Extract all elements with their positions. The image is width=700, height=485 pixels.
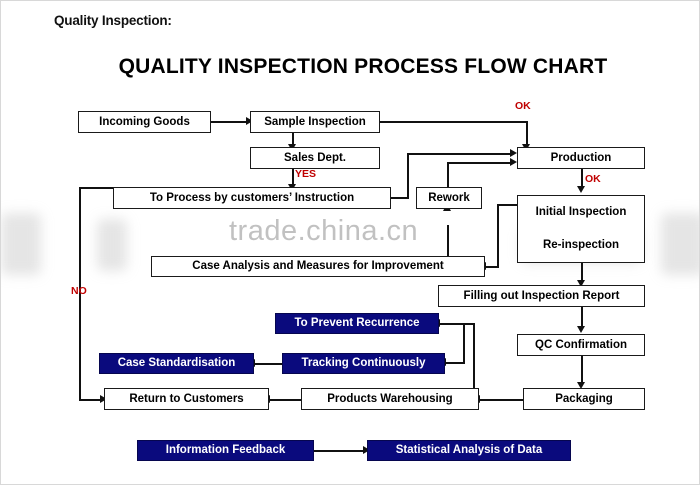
edge-no-bottom-horizontal — [79, 399, 101, 401]
edge-label-ok-top: OK — [515, 100, 531, 112]
edge-feedback-to-analysis — [314, 450, 366, 452]
edge-inspection-left-vertical — [497, 204, 499, 267]
edge-process-up — [407, 153, 409, 199]
edge-rework-to-production — [447, 162, 511, 164]
node-production[interactable]: Production — [517, 147, 645, 169]
edge-prevent-right — [439, 323, 465, 325]
edge-sample-ok-horizontal — [380, 121, 527, 123]
node-initial-inspection: Initial Inspection — [518, 196, 644, 229]
edge-no-top-horizontal — [79, 187, 115, 189]
node-filling-out-inspection-report[interactable]: Filling out Inspection Report — [438, 285, 645, 307]
page-caption: Quality Inspection: — [54, 13, 172, 28]
edge-prevent-to-tracking — [445, 362, 465, 364]
edge-process-to-production — [407, 153, 511, 155]
edge-qc-to-packaging — [581, 356, 583, 385]
node-case-standardisation[interactable]: Case Standardisation — [99, 353, 254, 374]
arrowhead-process-to-production — [510, 149, 517, 157]
flowchart-page: Quality Inspection: QUALITY INSPECTION P… — [0, 0, 700, 485]
node-tracking-continuously[interactable]: Tracking Continuously — [282, 353, 445, 374]
node-information-feedback[interactable]: Information Feedback — [137, 440, 314, 461]
node-incoming-goods[interactable]: Incoming Goods — [78, 111, 211, 133]
watermark-blob-left — [1, 213, 41, 275]
edge-label-yes: YES — [295, 168, 316, 180]
arrowhead-production-to-initial — [577, 186, 585, 193]
edge-prevent-down — [463, 323, 465, 364]
watermark-text: trade.china.cn — [229, 215, 418, 248]
edge-incoming-to-sample — [211, 121, 249, 123]
edge-rework-up — [447, 162, 449, 188]
page-title: QUALITY INSPECTION PROCESS FLOW CHART — [13, 55, 700, 79]
node-case-analysis-and-measures[interactable]: Case Analysis and Measures for Improveme… — [151, 256, 485, 277]
edge-packaging-to-warehousing — [479, 399, 523, 401]
node-rework[interactable]: Rework — [416, 187, 482, 209]
arrowhead-rework-to-production — [510, 158, 517, 166]
node-qc-confirmation[interactable]: QC Confirmation — [517, 334, 645, 356]
edge-warehousing-to-return — [269, 399, 301, 401]
node-sample-inspection[interactable]: Sample Inspection — [250, 111, 380, 133]
watermark-blob-right — [661, 213, 700, 275]
node-products-warehousing[interactable]: Products Warehousing — [301, 388, 479, 410]
edge-tracking-to-standardisation — [254, 363, 282, 365]
node-re-inspection: Re-inspection — [518, 229, 644, 262]
node-return-to-customers[interactable]: Return to Customers — [104, 388, 269, 410]
node-inspection-group[interactable]: Initial Inspection Re-inspection — [517, 195, 645, 263]
arrowhead-filling-to-qc — [577, 326, 585, 333]
edge-label-ok-production: OK — [585, 173, 601, 185]
node-sales-dept[interactable]: Sales Dept. — [250, 147, 380, 169]
node-to-prevent-recurrence[interactable]: To Prevent Recurrence — [275, 313, 439, 334]
node-to-process-by-customers-instruction[interactable]: To Process by customers’ Instruction — [113, 187, 391, 209]
node-statistical-analysis-of-data[interactable]: Statistical Analysis of Data — [367, 440, 571, 461]
edge-inspection-left-top — [497, 204, 517, 206]
edge-label-no: NO — [71, 285, 87, 297]
watermark-blob-left-inner — [97, 219, 127, 271]
node-packaging[interactable]: Packaging — [523, 388, 645, 410]
edge-inspection-to-case-analysis — [485, 266, 499, 268]
